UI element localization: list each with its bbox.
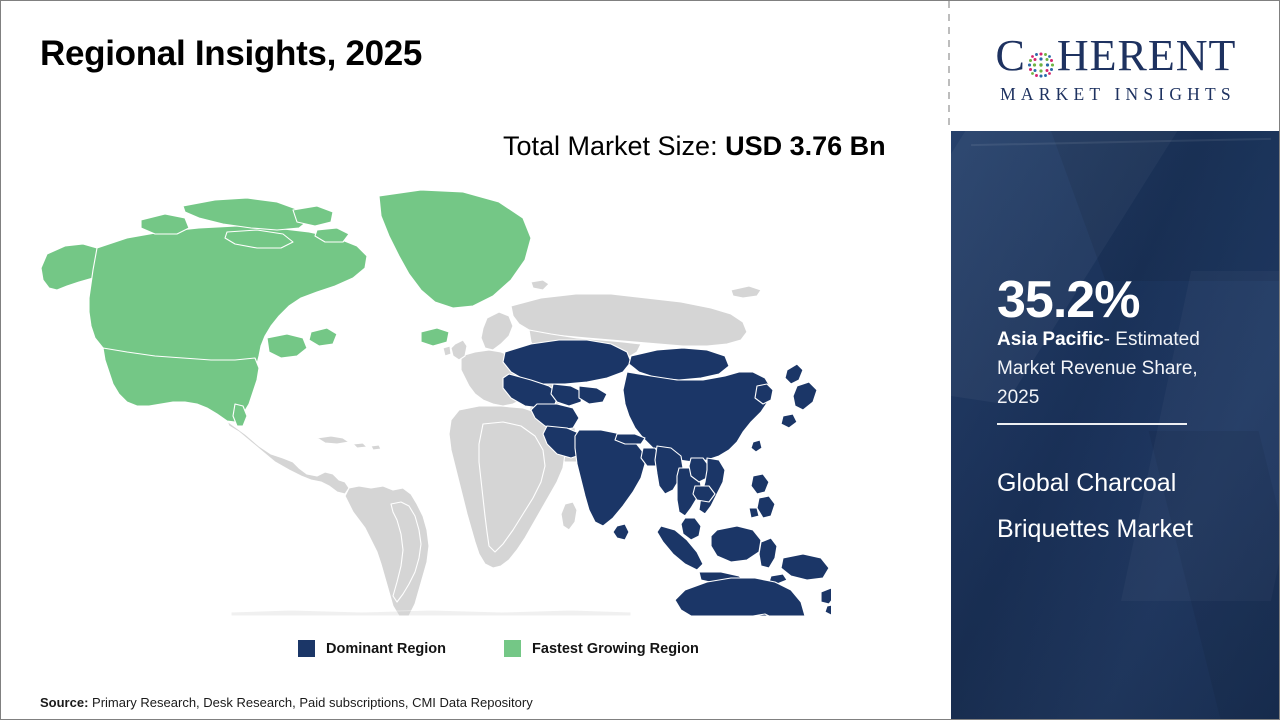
stat-region-name: Asia Pacific [997,329,1104,350]
source-line: Source: Primary Research, Desk Research,… [40,695,533,710]
dotted-globe-icon [1026,44,1056,74]
legend-swatch-fastest-growing [504,640,521,657]
stat-description: Asia Pacific- Estimated Market Revenue S… [997,326,1235,413]
vertical-dashed-divider [948,1,950,131]
legend-label-fastest-growing: Fastest Growing Region [532,641,699,657]
logo-tagline: MARKET INSIGHTS [996,84,1236,105]
source-label: Source: [40,695,88,710]
logo-letter-c: C [996,34,1026,78]
market-size-value: USD 3.76 Bn [725,131,886,161]
source-text: Primary Research, Desk Research, Paid su… [88,695,532,710]
slide-canvas: Regional Insights, 2025 Total Market Siz… [0,0,1280,720]
page-title: Regional Insights, 2025 [40,34,422,74]
report-title: Global Charcoal Briquettes Market [997,461,1247,552]
legend-label-dominant: Dominant Region [326,641,446,657]
panel-texture-shape-2 [1036,131,1280,281]
world-map-svg [31,186,831,616]
legend-swatch-dominant [298,640,315,657]
market-size-prefix: Total Market Size: [503,131,725,161]
legend-item-dominant: Dominant Region [298,640,446,657]
map-region-fastest-growing [41,190,531,426]
logo-wordmark: C [996,34,1237,78]
stat-value: 35.2% [997,274,1139,326]
map-legend: Dominant Region Fastest Growing Region [298,640,699,657]
brand-logo: C [951,1,1280,131]
world-map [31,186,831,616]
total-market-size: Total Market Size: USD 3.76 Bn [503,127,903,165]
legend-item-fastest-growing: Fastest Growing Region [504,640,699,657]
logo-letters-herent: HERENT [1057,34,1237,78]
panel-texture-shape-5 [971,138,1271,146]
panel-divider-rule [997,423,1187,425]
stat-panel: 35.2% Asia Pacific- Estimated Market Rev… [951,131,1280,720]
left-content-pane: Regional Insights, 2025 Total Market Siz… [1,1,950,720]
